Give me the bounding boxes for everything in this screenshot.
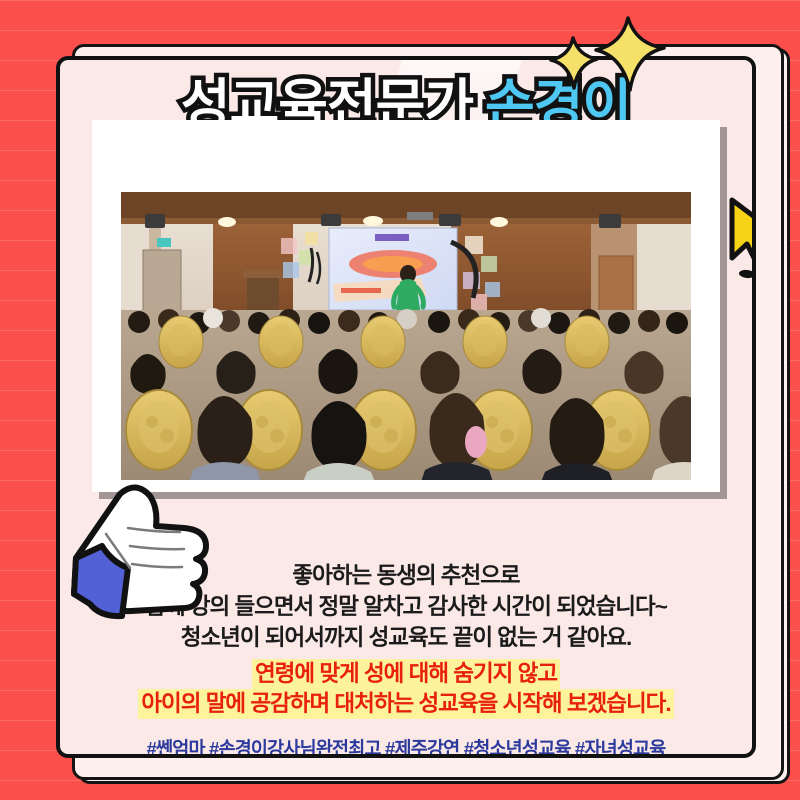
highlight-line-1: 연령에 맞게 성에 대해 숨기지 않고	[252, 659, 560, 689]
highlight-line-1-wrap: 연령에 맞게 성에 대해 숨기지 않고	[60, 659, 752, 689]
poster-canvas: 성교육전문가손경이 손경이 2월 7일[화] 제주	[0, 0, 800, 800]
highlight-line-2-wrap: 아이의 말에 공감하며 대처하는 성교육을 시작해 보겠습니다.	[60, 689, 752, 719]
cursor-arrow-icon	[720, 192, 756, 284]
highlight-line-2: 아이의 말에 공감하며 대처하는 성교육을 시작해 보겠습니다.	[138, 689, 673, 719]
photo-panel	[92, 120, 720, 492]
thumbs-up-hand-icon	[68, 476, 238, 636]
lecture-hall-photo	[121, 192, 691, 480]
sparkle-stars-icon	[540, 14, 670, 94]
lecture-hall-illustration	[121, 192, 691, 480]
hashtag-block: #쎈엄마 #손경이강사님완전최고 #제주강연 #청소년성교육 #자녀성교육 #요…	[60, 735, 752, 758]
poster-card: 성교육전문가손경이 손경이 2월 7일[화] 제주	[56, 56, 756, 758]
hashtag-line-1: #쎈엄마 #손경이강사님완전최고 #제주강연 #청소년성교육 #자녀성교육	[60, 735, 752, 758]
